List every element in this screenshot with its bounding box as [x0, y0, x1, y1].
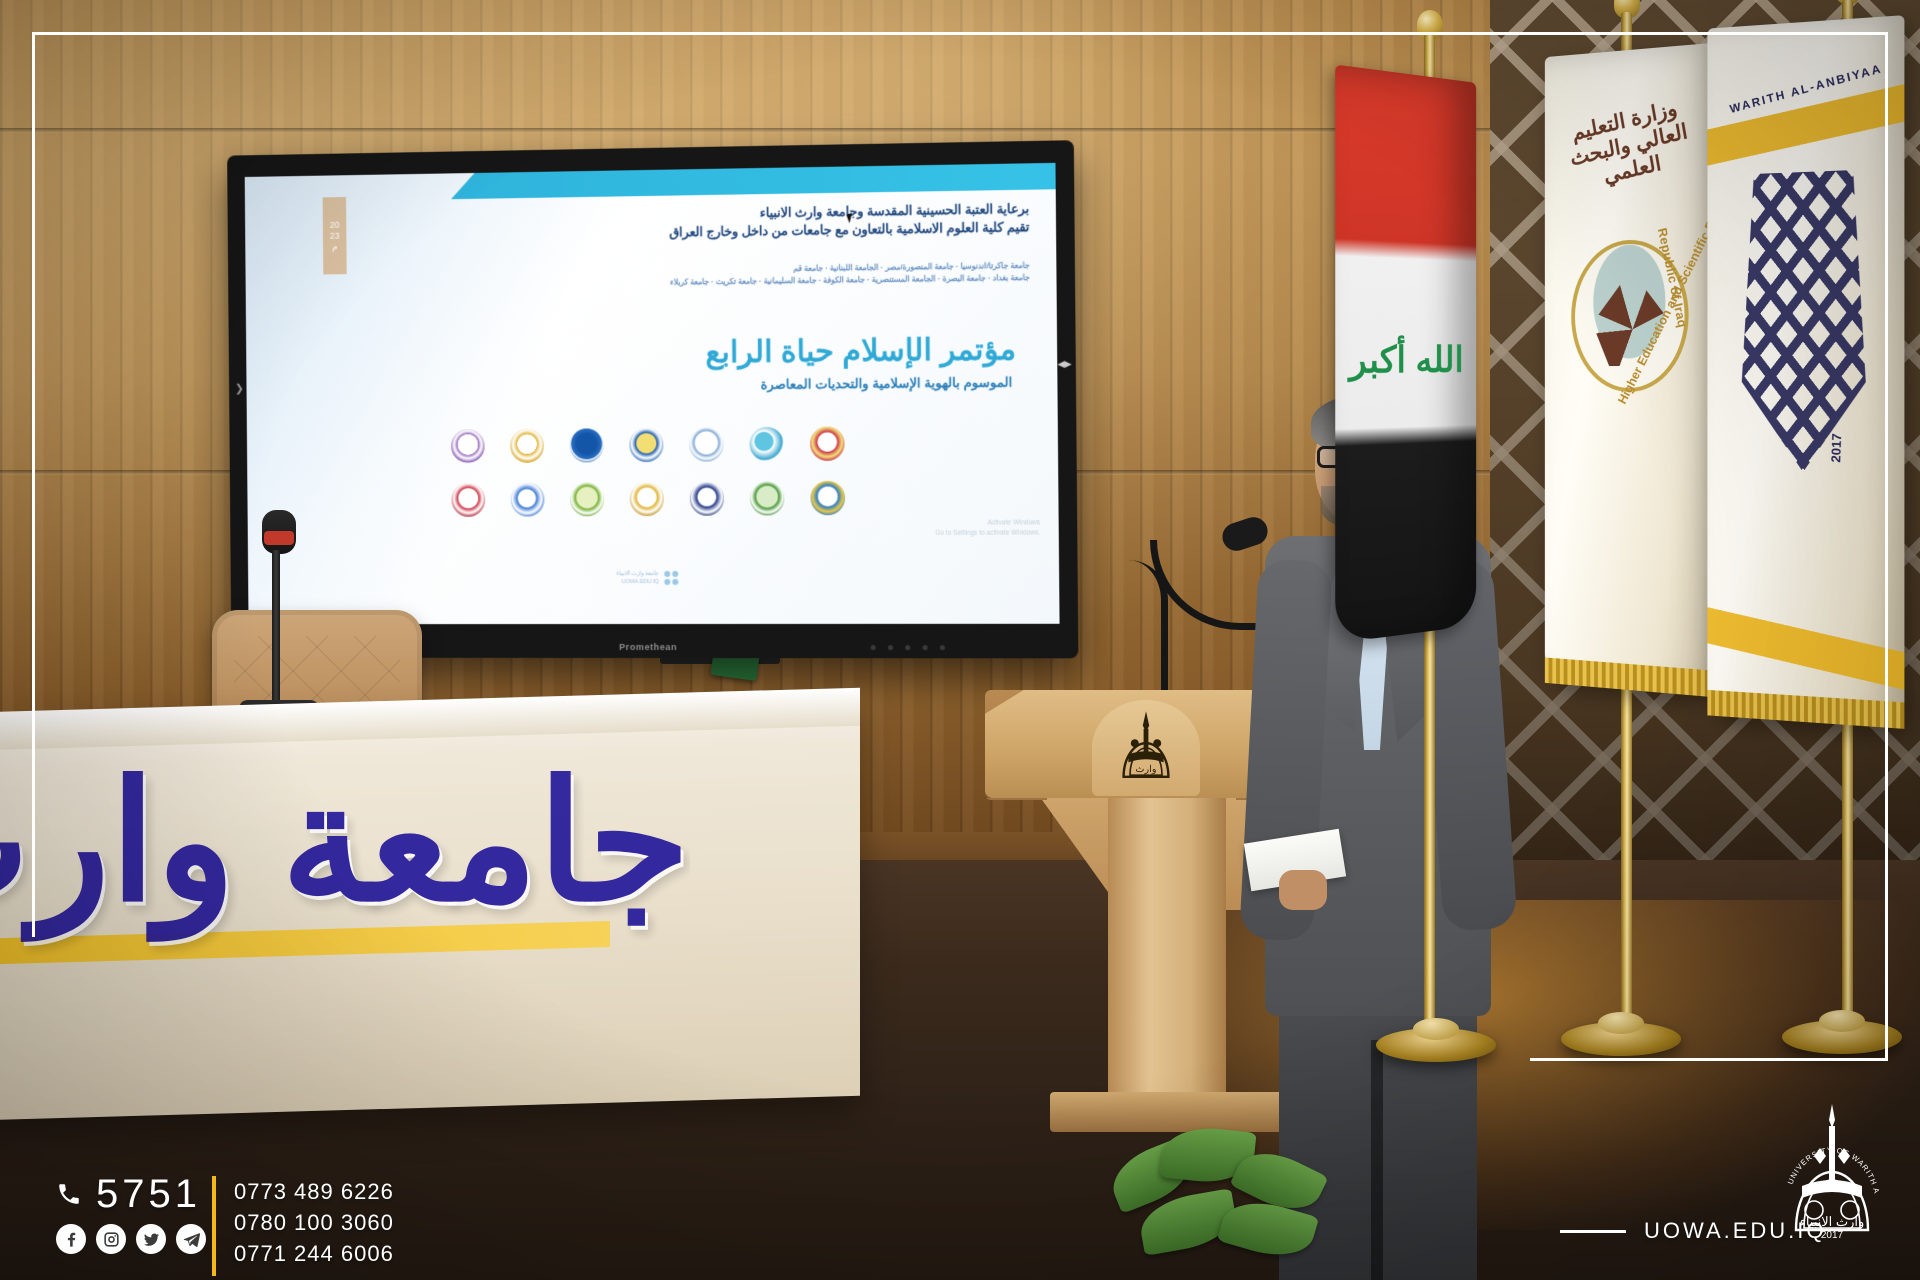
display-left-chevron-icon[interactable]: ❯: [235, 382, 244, 395]
phone-number: 0773 489 6226: [234, 1176, 394, 1207]
slide-footer-url: UOWA.EDU.IQ: [616, 578, 658, 586]
partner-logo: [750, 481, 785, 515]
facebook-icon[interactable]: [56, 1224, 86, 1254]
table-microphone-stem: [272, 550, 280, 710]
wall-seam: [0, 128, 1530, 133]
svg-text:وارث الانبياء: وارث الانبياء: [1800, 1214, 1865, 1230]
partner-logo: [451, 429, 485, 463]
display-button-icon[interactable]: [871, 645, 876, 650]
partner-logo: [689, 427, 723, 461]
partner-logo: [630, 482, 664, 516]
ministry-flag-cloth: وزارة التعليم العالي والبحث العلمي Repub…: [1545, 43, 1717, 698]
phone-icon: [56, 1181, 82, 1207]
year-part-3: م: [332, 241, 338, 252]
partner-logo: [810, 481, 845, 515]
year-part-1: 20: [330, 219, 340, 230]
display-brand-label: Promethean: [619, 642, 677, 652]
partner-logo: [570, 482, 604, 516]
university-flag-year: 2017: [1828, 433, 1844, 463]
short-phone-number: 5751: [96, 1174, 201, 1214]
photo-canvas: 20 23 م برعاية العتبة الحسينية المقدسة و…: [0, 0, 1920, 1280]
slide-footer-social-dots: [665, 571, 679, 585]
slide-footer-arabic: جامعة وارث الانبياء: [616, 570, 658, 578]
partner-logos-row-1: [247, 425, 1058, 465]
windows-activation-watermark: Activate Windows Go to Settings to activ…: [935, 518, 1040, 538]
dot-icon: [673, 579, 679, 585]
dot-icon: [665, 579, 671, 585]
slide-footer-text: جامعة وارث الانبياء UOWA.EDU.IQ: [616, 570, 659, 587]
contact-divider: [212, 1176, 216, 1276]
speaker-hand: [1279, 870, 1327, 910]
display-button-icon[interactable]: [940, 645, 945, 650]
slide-year-tab: 20 23 م: [323, 197, 347, 274]
partner-logo: [629, 428, 663, 462]
partner-logo: [570, 428, 604, 462]
instagram-icon[interactable]: [96, 1224, 126, 1254]
slide-footer: جامعة وارث الانبياء UOWA.EDU.IQ: [616, 570, 679, 587]
dot-icon: [673, 571, 679, 577]
twitter-icon[interactable]: [136, 1224, 166, 1254]
iraq-flag-script: الله أكبر: [1349, 339, 1463, 382]
flag-base: [1561, 1022, 1681, 1056]
svg-text:وارث: وارث: [1136, 764, 1157, 775]
partner-logo: [451, 483, 485, 517]
flag-base: [1376, 1028, 1496, 1062]
social-icon-row[interactable]: [56, 1224, 206, 1254]
partner-logo: [511, 483, 545, 517]
phone-number-list: 0773 489 6226 0780 100 3060 0771 244 600…: [234, 1176, 394, 1270]
phone-number: 0771 244 6006: [234, 1238, 394, 1269]
flag-base: [1782, 1020, 1902, 1054]
partner-logos-row-2: [247, 480, 1058, 518]
speaker-leg-gap: [1371, 1040, 1383, 1280]
partner-logo: [749, 427, 784, 461]
website-dash-rule: [1560, 1230, 1626, 1233]
telegram-icon[interactable]: [176, 1224, 206, 1254]
short-number-row: 5751: [56, 1174, 201, 1214]
display-button-row[interactable]: [871, 645, 945, 650]
watermark-line-1: Activate Windows: [935, 518, 1040, 528]
ministry-arabic-text: وزارة التعليم العالي والبحث العلمي: [1551, 91, 1708, 199]
partner-logo: [690, 482, 724, 516]
display-button-icon[interactable]: [905, 645, 910, 650]
interactive-display[interactable]: 20 23 م برعاية العتبة الحسينية المقدسة و…: [227, 140, 1078, 658]
slide-title: مؤتمر الإسلام حياة الرابع: [365, 332, 1016, 374]
dot-icon: [665, 571, 671, 577]
display-button-icon[interactable]: [922, 645, 927, 650]
podium-university-emblem: وارث: [1092, 700, 1200, 796]
university-flag-cloth: WARITH AL-ANBIYAA 2017: [1707, 15, 1904, 729]
svg-text:2017: 2017: [1821, 1230, 1844, 1241]
presentation-slide: 20 23 م برعاية العتبة الحسينية المقدسة و…: [245, 163, 1060, 624]
desk-calligraphy-sign: جامعة وارث الانبياء: [0, 760, 690, 1000]
display-button-icon[interactable]: [888, 645, 893, 650]
potted-plant: [1100, 1120, 1360, 1280]
watermark-line-2: Go to Settings to activate Windows.: [935, 528, 1040, 538]
podium-column: [1108, 790, 1226, 1120]
university-seal: UNIVERSITY OF WARITH AL-ANBIYAA 2017 وار…: [1768, 1100, 1896, 1250]
phone-number: 0780 100 3060: [234, 1207, 394, 1238]
contact-bar: 5751 0773 489 6226 0780 100 3060 0771 24…: [56, 1180, 476, 1270]
partner-logo: [810, 426, 845, 460]
iraq-flag-cloth: الله أكبر: [1335, 65, 1476, 644]
partner-logo: [510, 429, 544, 463]
table-microphone-red-band: [264, 531, 294, 545]
year-part-2: 23: [330, 230, 340, 241]
display-right-marker-icon[interactable]: ◀▶: [1057, 359, 1071, 370]
